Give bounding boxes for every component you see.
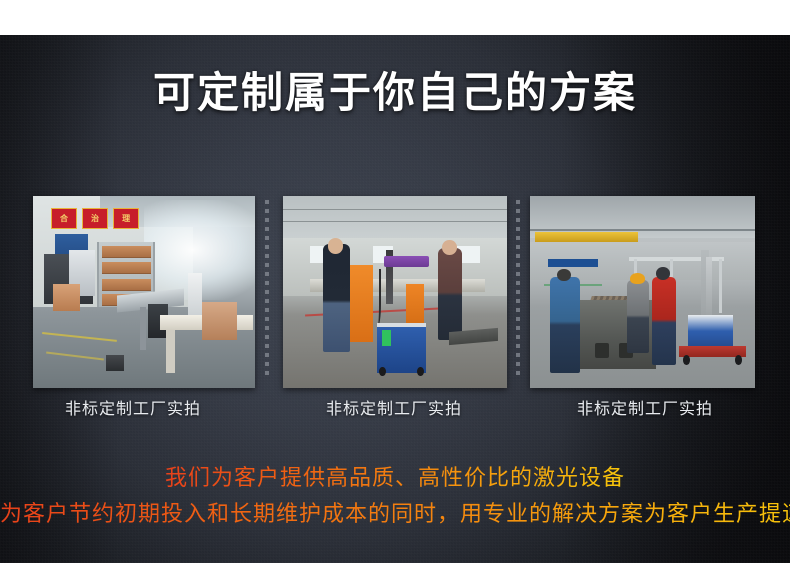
photo3-overhead-crane: [535, 232, 639, 242]
slogan-line-2-text: 为客户节约初期投入和长期维护成本的同时，用专业的解决方案为客户生产提速: [0, 502, 790, 527]
photo2-caster-wheel: [417, 367, 424, 377]
photo1-floor-cart: [106, 355, 124, 370]
photo1-floor-marking: [46, 352, 104, 361]
photo2-worker-head: [328, 238, 344, 253]
photo3-crane-rail: [530, 229, 755, 231]
photo2-roof: [283, 196, 507, 242]
gallery-caption-3: 非标定制工厂实拍: [545, 398, 745, 420]
photo-gallery: 合 治 理: [0, 196, 790, 388]
photo1-worktable-leg: [166, 330, 175, 372]
photo1-large-carton: [202, 302, 238, 340]
photo1-pallet-stack: [53, 284, 80, 311]
photo3-worker-head: [557, 269, 571, 281]
photo3-laser-machine: [688, 315, 733, 350]
photo3-worker-helmet: [627, 280, 650, 353]
photo2-steel-plate: [449, 328, 498, 346]
photo3-trolley-wheel: [683, 355, 690, 365]
photo3-worker-head: [656, 267, 670, 279]
gallery-caption-2: 非标定制工厂实拍: [294, 398, 494, 420]
photo3-worker-blue-uniform: [550, 277, 579, 373]
factory-photo-packaging-line[interactable]: 合 治 理: [33, 196, 255, 388]
photo1-carton-row: [102, 262, 151, 274]
gallery-divider-2: [516, 200, 520, 380]
page-title: 可定制属于你自己的方案: [0, 70, 790, 116]
gallery-divider-1: [265, 200, 269, 380]
photo3-trolley-wheel: [735, 355, 742, 365]
gallery-item-3[interactable]: [530, 196, 755, 388]
photo2-worker-seated: [438, 248, 463, 340]
photo3-safety-helmet: [630, 273, 645, 285]
photo1-carton-row: [102, 246, 151, 258]
photo2-caster-wheel: [379, 367, 386, 377]
photo3-blue-sign: [548, 259, 598, 267]
slogan-line-1-text: 我们为客户提供高品质、高性价比的激光设备: [165, 466, 625, 491]
factory-photo-heavy-workshop[interactable]: [530, 196, 755, 388]
photo1-sign-char-1: 合: [51, 208, 77, 229]
photo3-laser-mast: [706, 257, 713, 318]
gallery-item-1[interactable]: 合 治 理: [33, 196, 255, 388]
photo2-worker-head: [442, 240, 457, 254]
photo2-worker-standing: [323, 244, 350, 352]
photo2-cabinet-indicator: [382, 330, 391, 345]
photo1-floor-marking: [42, 332, 117, 342]
factory-photo-laser-marking[interactable]: [283, 196, 507, 388]
top-white-band: [0, 0, 790, 35]
photo1-sign-char-2: 治: [82, 208, 108, 229]
photo3-casting-hole: [595, 343, 609, 358]
promo-banner-page: 可定制属于你自己的方案 合 治 理: [0, 0, 790, 563]
photo2-cable: [373, 269, 382, 327]
slogan-line-1: 我们为客户提供高品质、高性价比的激光设备: [0, 464, 790, 494]
slogan-line-2: 为客户节约初期投入和长期维护成本的同时，用专业的解决方案为客户生产提速: [0, 500, 790, 530]
photo2-truss: [283, 209, 507, 210]
photo3-worker-red-shirt: [652, 277, 677, 365]
photo1-carton-row: [102, 279, 151, 291]
photo2-truss: [283, 221, 507, 222]
gallery-caption-1: 非标定制工厂实拍: [33, 398, 233, 420]
photo2-laser-head: [384, 256, 429, 268]
photo1-conveyor-leg: [140, 307, 147, 349]
photo3-gantry-leg: [719, 259, 722, 313]
photo1-sign-char-3: 理: [113, 208, 139, 229]
gallery-item-2[interactable]: [283, 196, 507, 388]
